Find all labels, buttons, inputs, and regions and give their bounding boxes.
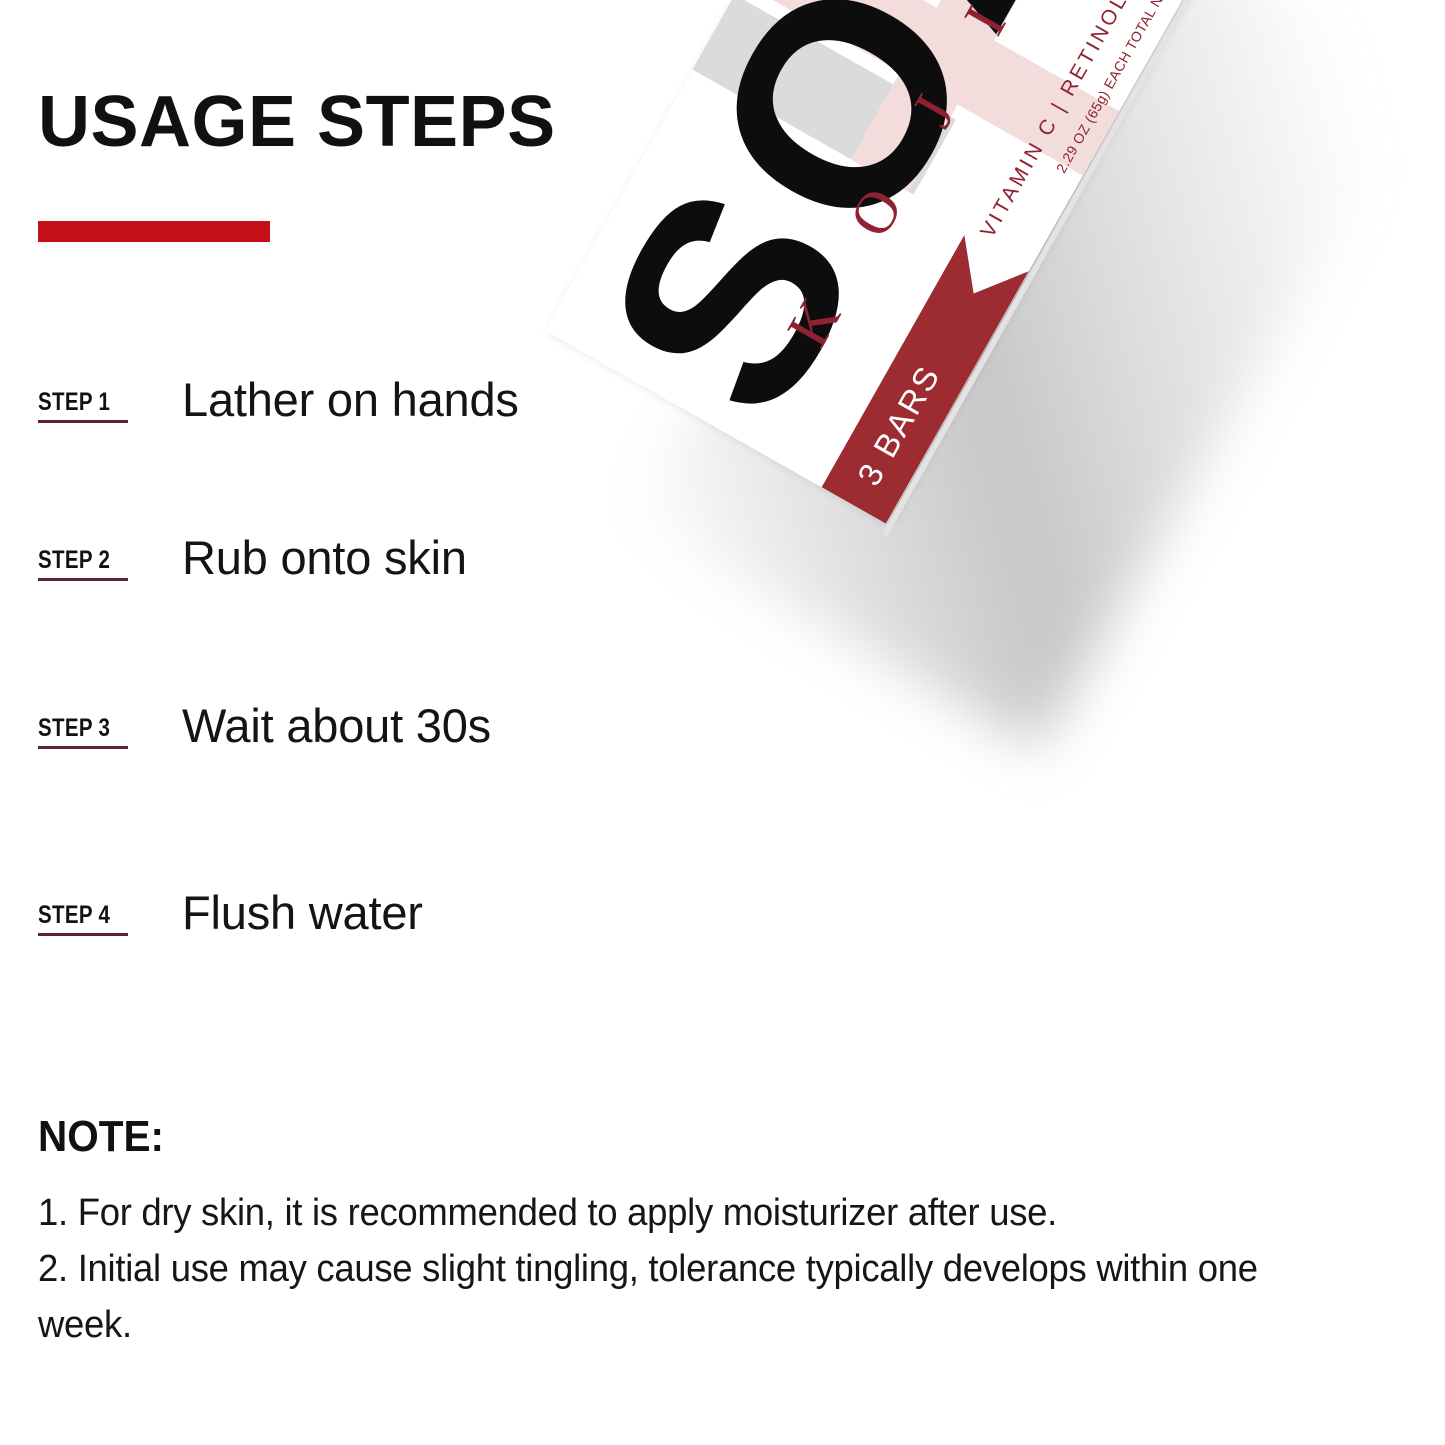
step-3-underline bbox=[38, 746, 128, 749]
note-body: 1. For dry skin, it is recommended to ap… bbox=[38, 1185, 1305, 1354]
step-2-underline bbox=[38, 578, 128, 581]
active-ingredient-line-1: K O J I C bbox=[773, 0, 1097, 358]
title-accent-rule bbox=[38, 221, 270, 242]
step-1-text: Lather on hands bbox=[182, 372, 519, 427]
decor-band-pink-vertical-2 bbox=[951, 0, 1269, 20]
step-4-tag: STEP 4 bbox=[38, 901, 113, 930]
decor-band-gray bbox=[652, 0, 955, 195]
decor-band-pink-horizontal bbox=[851, 0, 1135, 192]
note-heading: NOTE: bbox=[38, 1112, 164, 1162]
package-bottom-edge bbox=[534, 0, 1380, 537]
page-title: USAGE STEPS bbox=[38, 86, 556, 158]
package-front-face: SOAP K O J I C A C I D OrientLeaf® VITAM… bbox=[545, 0, 1379, 524]
usage-steps-infographic: USAGE STEPS STEP 1 Lather on hands STEP … bbox=[0, 0, 1445, 1445]
net-weight-text: 2.29 OZ (65g) EACH TOTAL NET WT: 6.87 OZ… bbox=[1053, 0, 1241, 176]
note-line-1: 1. For dry skin, it is recommended to ap… bbox=[38, 1185, 1305, 1241]
product-type-wordmark: SOAP bbox=[578, 0, 1226, 444]
step-3-text: Wait about 30s bbox=[182, 698, 491, 753]
step-4-underline bbox=[38, 933, 128, 936]
product-package-image: SOAP K O J I C A C I D OrientLeaf® VITAM… bbox=[600, 0, 1445, 1190]
package-drop-shadow bbox=[631, 0, 1428, 750]
decor-band-pink-vertical bbox=[716, 0, 1162, 199]
step-1-tag: STEP 1 bbox=[38, 388, 113, 417]
step-1-underline bbox=[38, 420, 128, 423]
step-2-tag: STEP 2 bbox=[38, 546, 113, 575]
step-4-text: Flush water bbox=[182, 885, 423, 940]
note-line-2: 2. Initial use may cause slight tingling… bbox=[38, 1241, 1305, 1353]
step-2-text: Rub onto skin bbox=[182, 530, 467, 585]
quantity-badge: 3 BARS bbox=[821, 235, 1028, 524]
step-3-tag: STEP 3 bbox=[38, 714, 113, 743]
ingredient-list: VITAMIN C | RETINOL | COLLAGEN | TUR bbox=[976, 0, 1256, 242]
